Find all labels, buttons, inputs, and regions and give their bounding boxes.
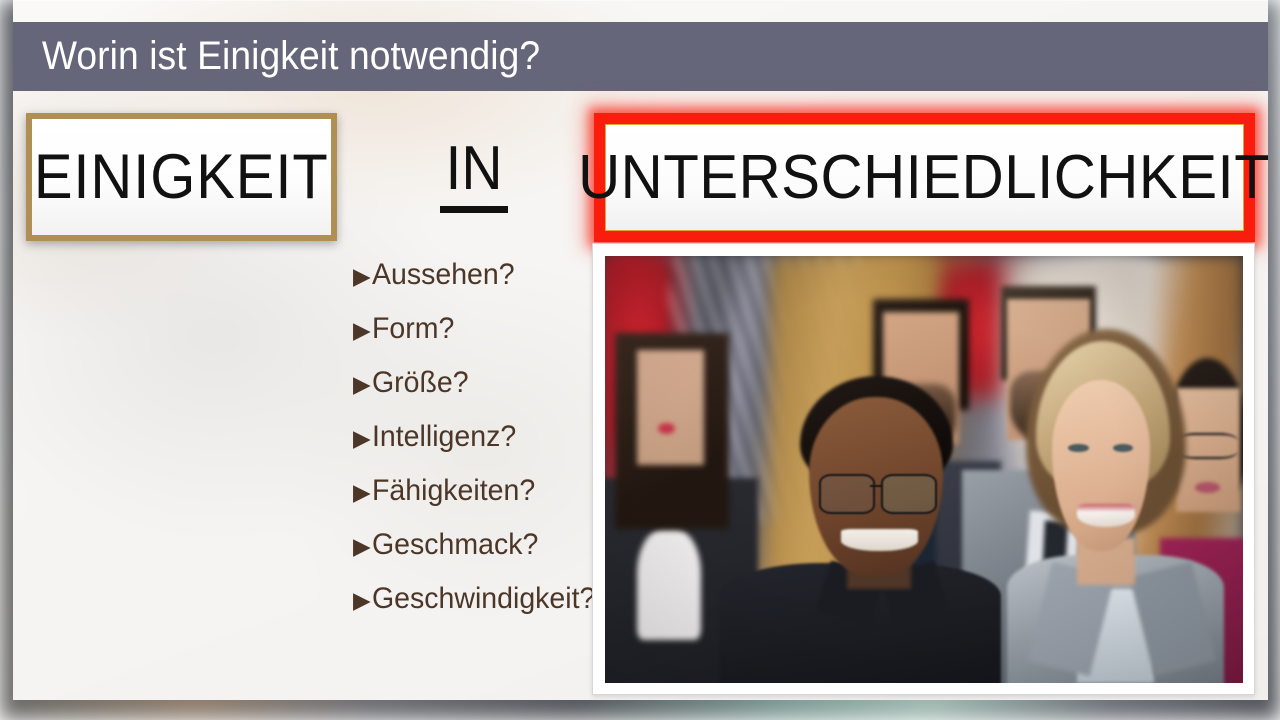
slide-title-bar: Worin ist Einigkeit notwendig? [13,22,1268,91]
business-team-photo [605,256,1243,683]
list-item: ▶ Geschwindigkeit? [353,582,603,636]
list-item-label: Geschwindigkeit? [372,582,595,616]
list-item-label: Fähigkeiten? [372,474,535,508]
headline-middle-underline [440,206,508,213]
headline-right-word: UNTERSCHIEDLICHKEIT [578,142,1268,213]
headline-middle-word: IN [445,140,502,199]
triangle-bullet-icon: ▶ [353,535,371,558]
triangle-bullet-icon: ▶ [353,481,371,504]
list-item: ▶ Geschmack? [353,528,603,582]
headline-left-word: EINIGKEIT [34,141,329,213]
presentation-slide: Worin ist Einigkeit notwendig? EINIGKEIT… [13,0,1268,700]
list-item-label: Aussehen? [372,258,515,292]
headline-middle-word-group: IN [436,140,512,213]
list-item-label: Form? [372,312,454,346]
list-item: ▶ Größe? [353,366,603,420]
slide-title: Worin ist Einigkeit notwendig? [13,34,540,79]
triangle-bullet-icon: ▶ [353,589,371,612]
list-item: ▶ Form? [353,312,603,366]
list-item: ▶ Fähigkeiten? [353,474,603,528]
list-item-label: Größe? [372,366,469,400]
slide-top-edge [13,0,1268,1]
bullet-list: ▶ Aussehen? ▶ Form? ▶ Größe? ▶ Intellige… [353,258,603,636]
list-item-label: Geschmack? [372,528,538,562]
triangle-bullet-icon: ▶ [353,319,371,342]
list-item-label: Intelligenz? [372,420,516,454]
headline-left-box: EINIGKEIT [26,113,337,241]
photo-vignette [605,256,1243,683]
list-item: ▶ Intelligenz? [353,420,603,474]
triangle-bullet-icon: ▶ [353,427,371,450]
headline-right-box: UNTERSCHIEDLICHKEIT [594,113,1255,242]
list-item: ▶ Aussehen? [353,258,603,312]
triangle-bullet-icon: ▶ [353,373,371,396]
photo-frame [592,243,1255,695]
triangle-bullet-icon: ▶ [353,265,371,288]
